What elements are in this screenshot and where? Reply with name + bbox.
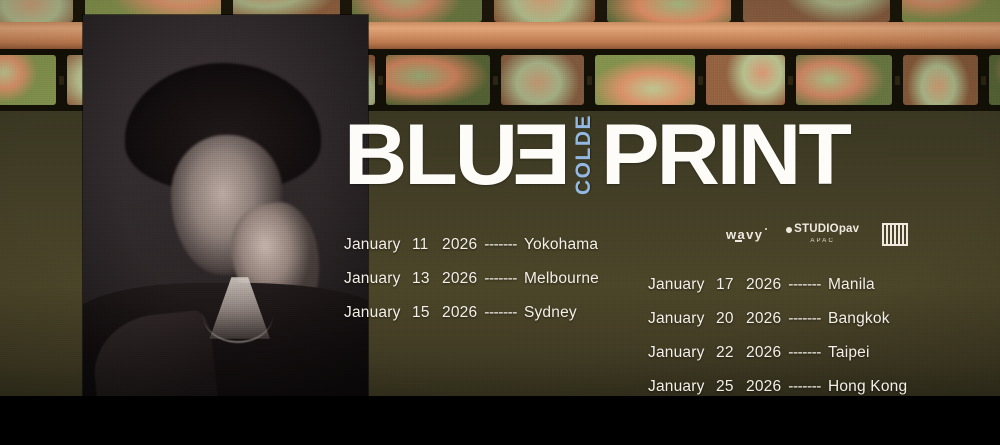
filmstrip-frame [0, 0, 73, 22]
tour-date-row[interactable]: January 20 2026 ------- Bangkok [648, 310, 907, 328]
date-month: January [344, 304, 410, 322]
studiopav-dot-icon [786, 227, 792, 233]
date-year: 2026 [442, 270, 477, 288]
date-dash-separator: ------- [484, 304, 517, 322]
tour-date-row[interactable]: January 15 2026 ------- Sydney [344, 304, 599, 322]
filmstrip-frame [386, 55, 490, 105]
date-day: 22 [716, 344, 738, 362]
date-year: 2026 [442, 236, 477, 254]
filmstrip-sprocket-hole [587, 76, 592, 85]
filmstrip-sprocket-hole [493, 76, 498, 85]
filmstrip-frame [706, 55, 785, 105]
filmstrip-frame [352, 0, 482, 22]
date-year: 2026 [746, 344, 781, 362]
date-month: January [648, 378, 714, 396]
tour-date-row[interactable]: January 17 2026 ------- Manila [648, 276, 907, 294]
tour-poster: BLUE COLDE PRINT wavy STUDIOpav APAC Jan… [0, 0, 1000, 445]
date-city: Manila [828, 276, 875, 294]
filmstrip-sprocket-hole [59, 76, 64, 85]
date-month: January [648, 310, 714, 328]
date-year: 2026 [746, 378, 781, 396]
date-year: 2026 [746, 276, 781, 294]
date-year: 2026 [746, 310, 781, 328]
filmstrip-frame [607, 0, 731, 22]
date-city: Sydney [524, 304, 577, 322]
date-month: January [648, 276, 714, 294]
filmstrip-frame [743, 0, 890, 22]
studiopav-logo-text: STUDIOpav [794, 224, 859, 236]
date-month: January [648, 344, 714, 362]
wavy-logo-dot-icon [765, 228, 767, 230]
letterbox-bar-bottom [0, 396, 1000, 445]
filmstrip-sprocket-hole [981, 76, 986, 85]
date-city: Taipei [828, 344, 870, 362]
tour-dates-column-right: January 17 2026 ------- Manila January 2… [648, 276, 907, 412]
filmstrip-frame [595, 55, 695, 105]
filmstrip-frame [0, 55, 56, 105]
filmstrip-sprocket-hole [698, 76, 703, 85]
filmstrip-frame [501, 55, 584, 105]
date-dash-separator: ------- [484, 236, 517, 254]
artist-portrait-photo [83, 15, 368, 412]
filmstrip-frame [796, 55, 892, 105]
sponsor-logo-strip: wavy STUDIOpav APAC [726, 221, 908, 247]
filmstrip-frame [494, 0, 595, 22]
date-day: 20 [716, 310, 738, 328]
date-dash-separator: ------- [788, 276, 821, 294]
tour-dates-column-left: January 11 2026 ------- Yokohama January… [344, 236, 599, 338]
filmstrip-sprocket-hole [378, 76, 383, 85]
date-dash-separator: ------- [788, 310, 821, 328]
date-city: Yokohama [524, 236, 598, 254]
studiopav-logo[interactable]: STUDIOpav APAC [786, 224, 859, 245]
title-word-blue-prefix: BLU [344, 107, 515, 203]
date-city: Bangkok [828, 310, 890, 328]
tour-date-row[interactable]: January 25 2026 ------- Hong Kong [648, 378, 907, 396]
title-word-print: PRINT [601, 120, 849, 191]
filmstrip-frame [903, 55, 978, 105]
date-day: 11 [412, 236, 434, 254]
studiopav-logo-region: APAC [810, 238, 835, 244]
date-city: Melbourne [524, 270, 599, 288]
date-city: Hong Kong [828, 378, 907, 396]
tour-date-row[interactable]: January 13 2026 ------- Melbourne [344, 270, 599, 288]
date-dash-separator: ------- [788, 378, 821, 396]
artist-name-vertical: COLDE [573, 114, 594, 195]
title-flipped-e: E [515, 120, 570, 191]
tour-date-row[interactable]: January 11 2026 ------- Yokohama [344, 236, 599, 254]
filmstrip-sprocket-hole [895, 76, 900, 85]
date-day: 15 [412, 304, 434, 322]
wavy-logo-text: wavy [726, 227, 763, 242]
studiopav-logo-main: STUDIOpav [786, 224, 859, 236]
date-month: January [344, 270, 410, 288]
date-dash-separator: ------- [484, 270, 517, 288]
date-dash-separator: ------- [788, 344, 821, 362]
date-day: 25 [716, 378, 738, 396]
wavy-logo-underline [735, 240, 742, 242]
date-month: January [344, 236, 410, 254]
date-day: 13 [412, 270, 434, 288]
filmstrip-frame [902, 0, 1000, 22]
title-word-blue: BLUE [344, 120, 571, 191]
wavy-logo[interactable]: wavy [726, 227, 763, 242]
date-day: 17 [716, 276, 738, 294]
filmstrip-frame [989, 55, 1000, 105]
date-year: 2026 [442, 304, 477, 322]
tour-date-row[interactable]: January 22 2026 ------- Taipei [648, 344, 907, 362]
title-lockup: BLUE COLDE PRINT [344, 118, 896, 192]
partner-mark-logo[interactable] [882, 223, 908, 246]
filmstrip-sprocket-hole [788, 76, 793, 85]
